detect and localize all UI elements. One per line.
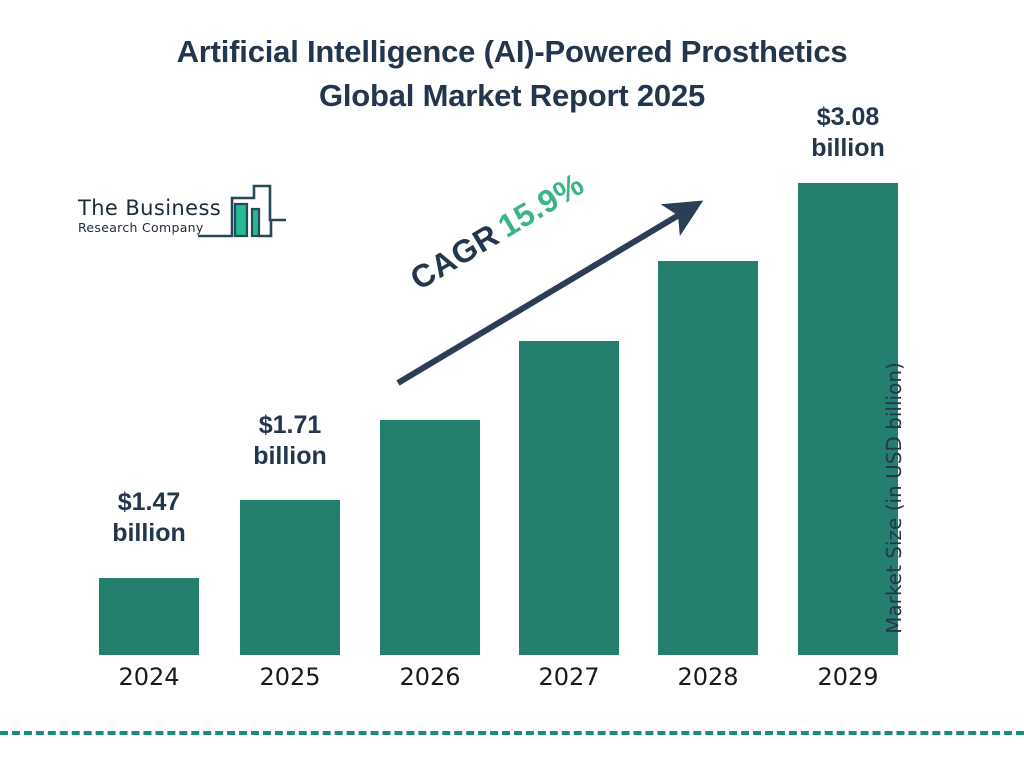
bar-2025	[240, 500, 340, 655]
xtick-2027: 2027	[519, 663, 619, 691]
value-unit-2029: billion	[811, 134, 885, 162]
value-label-2025: $1.71 billion	[210, 410, 370, 472]
value-unit-2025: billion	[253, 442, 327, 470]
xtick-2028: 2028	[658, 663, 758, 691]
xtick-2025: 2025	[240, 663, 340, 691]
chart-canvas: Artificial Intelligence (AI)-Powered Pro…	[0, 0, 1024, 768]
cagr-value: 15.9%	[492, 166, 590, 245]
xtick-2026: 2026	[380, 663, 480, 691]
value-amount-2029: $3.08	[817, 103, 880, 131]
xtick-2024: 2024	[99, 663, 199, 691]
y-axis-title: Market Size (in USD billion)	[882, 318, 906, 678]
value-label-2029: $3.08 billion	[768, 102, 928, 164]
value-amount-2024: $1.47	[118, 488, 181, 516]
value-unit-2024: billion	[112, 519, 186, 547]
bar-2028	[658, 261, 758, 655]
bar-2024	[99, 578, 199, 655]
bar-chart-plot: $1.47 billion $1.71 billion $3.08 billio…	[0, 0, 1024, 768]
cagr-annotation: CAGR15.9%	[404, 166, 591, 298]
value-label-2024: $1.47 billion	[69, 487, 229, 549]
footer-divider	[0, 731, 1024, 735]
value-amount-2025: $1.71	[259, 411, 322, 439]
cagr-label: CAGR	[404, 217, 505, 297]
bar-2027	[519, 341, 619, 655]
bar-2026	[380, 420, 480, 655]
